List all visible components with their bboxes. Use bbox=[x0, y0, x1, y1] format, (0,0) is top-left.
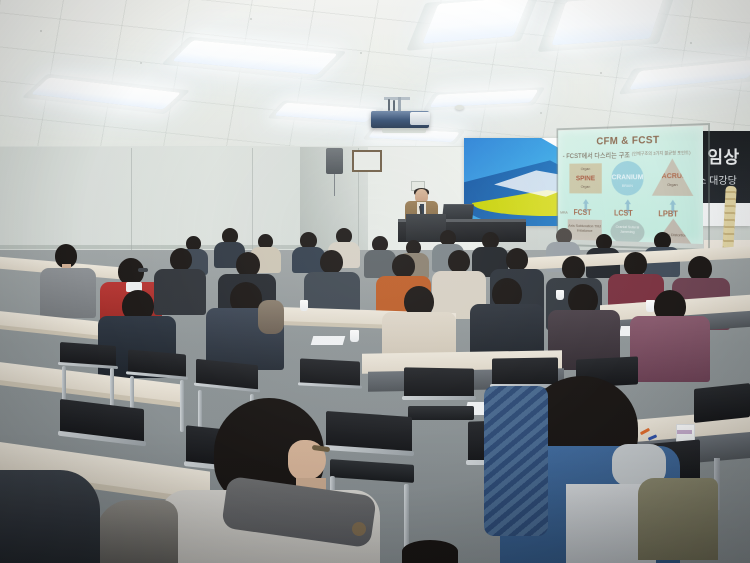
ceiling-speck bbox=[140, 62, 142, 64]
audience-head bbox=[624, 252, 647, 276]
fur-collar bbox=[96, 500, 178, 563]
chair-back[interactable] bbox=[694, 383, 750, 423]
projector-lens bbox=[410, 112, 430, 125]
draped-coat bbox=[638, 478, 718, 560]
paper-cup bbox=[300, 300, 308, 311]
speaker-wire bbox=[334, 174, 335, 196]
wall-joint bbox=[131, 148, 132, 253]
projector-cable bbox=[393, 100, 395, 111]
wall-speaker bbox=[326, 148, 343, 174]
audience-torso-purple-puffer bbox=[630, 316, 710, 382]
audience-head bbox=[448, 250, 470, 273]
chair-frame bbox=[402, 396, 476, 400]
chair-back[interactable] bbox=[404, 367, 474, 398]
audience-head bbox=[506, 248, 528, 271]
ceiling-speck bbox=[250, 18, 252, 20]
audience-head bbox=[320, 250, 343, 274]
projector-shadow bbox=[382, 128, 426, 133]
chair-leg bbox=[180, 380, 184, 432]
cup-pattern bbox=[677, 430, 692, 434]
lecture-hall-photo: 턱관절 균형 ] 법 임상특 구소 대강당 CFM & FCST - FCST에… bbox=[0, 0, 750, 563]
eyeglasses-icon bbox=[138, 268, 148, 272]
handout bbox=[311, 336, 346, 345]
audience-torso-gray-sweater bbox=[40, 268, 96, 318]
paper-cup bbox=[556, 290, 564, 300]
audience-head bbox=[402, 540, 458, 563]
chair-back[interactable] bbox=[492, 357, 558, 386]
jacket-button bbox=[352, 522, 366, 536]
audience-head bbox=[392, 254, 415, 278]
ceiling-speck bbox=[40, 30, 42, 32]
ceiling-speck bbox=[690, 42, 692, 44]
audience-torso bbox=[154, 269, 206, 315]
smoke-detector bbox=[455, 105, 464, 110]
ceiling-speck bbox=[540, 112, 542, 114]
ceiling-light bbox=[551, 0, 664, 45]
chair-seat[interactable] bbox=[408, 406, 474, 420]
ceiling-speck bbox=[360, 52, 362, 54]
projection-screen-frame bbox=[557, 123, 710, 251]
projector-mount bbox=[398, 97, 401, 111]
ceiling-speck bbox=[600, 72, 602, 74]
paper-cup bbox=[350, 330, 359, 342]
fur-hood bbox=[258, 300, 284, 334]
wall-picture-frame bbox=[352, 150, 382, 172]
foreground-person2-scarf bbox=[484, 386, 548, 536]
foreground-person3-shoulder bbox=[0, 470, 100, 563]
wall-joint bbox=[252, 148, 253, 252]
audience-head bbox=[562, 256, 585, 280]
audience-head bbox=[170, 248, 192, 271]
projector-cable bbox=[388, 99, 390, 111]
left-wall-panel bbox=[0, 147, 300, 255]
